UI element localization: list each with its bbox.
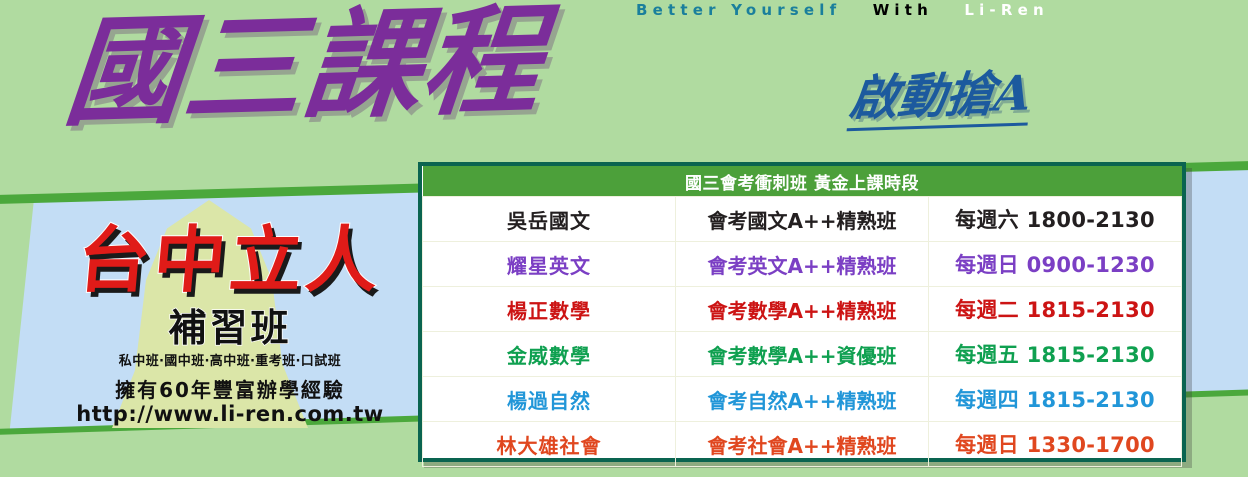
schedule-cell-course: 會考社會A++精熟班 (676, 422, 929, 467)
tagline-part-2: With (873, 1, 933, 19)
logo-brand-name: 台中立人 (30, 218, 429, 302)
brand-logo: 台中立人 補習班 私中班‧國中班‧高中班‧重考班‧口試班 擁有60年豐富辦學經驗… (26, 200, 426, 432)
logo-class-list: 私中班‧國中班‧高中班‧重考班‧口試班 (34, 350, 426, 369)
schedule-cell-time: 每週日 1330-1700 (929, 422, 1182, 467)
tagline-part-1: Better Yourself (636, 1, 841, 19)
schedule-cell-teacher: 楊正數學 (423, 287, 676, 332)
table-row: 楊過自然會考自然A++精熟班每週四 1815-2130 (423, 377, 1182, 422)
schedule-cell-teacher: 吳岳國文 (423, 197, 676, 242)
table-row: 楊正數學會考數學A++精熟班每週二 1815-2130 (423, 287, 1182, 332)
schedule-table-head: 國三會考衝刺班 黃金上課時段 (423, 166, 1182, 197)
logo-experience-text: 擁有60年豐富辦學經驗 (34, 378, 426, 403)
schedule-cell-course: 會考英文A++精熟班 (676, 242, 929, 287)
table-row: 林大雄社會會考社會A++精熟班每週日 1330-1700 (423, 422, 1182, 467)
tagline: Better Yourself With Li-Ren (636, 0, 1248, 21)
schedule-cell-teacher: 金威數學 (423, 332, 676, 377)
schedule-header-title: 國三會考衝刺班 黃金上課時段 (423, 166, 1182, 197)
schedule-cell-time: 每週二 1815-2130 (929, 287, 1182, 332)
logo-website-url[interactable]: http://www.li-ren.com.tw (34, 402, 426, 427)
schedule-header-row: 國三會考衝刺班 黃金上課時段 (423, 166, 1182, 197)
schedule-cell-time: 每週六 1800-2130 (929, 197, 1182, 242)
schedule-cell-teacher: 耀星英文 (423, 242, 676, 287)
poster-root: Better Yourself With Li-Ren 國三課程 啟動搶A 台中… (0, 0, 1248, 477)
schedule-cell-teacher: 林大雄社會 (423, 422, 676, 467)
schedule-cell-course: 會考數學A++資優班 (676, 332, 929, 377)
schedule-cell-course: 會考數學A++精熟班 (676, 287, 929, 332)
page-title: 國三課程 (60, 0, 548, 138)
schedule-table-frame: 國三會考衝刺班 黃金上課時段 吳岳國文會考國文A++精熟班每週六 1800-21… (418, 162, 1186, 462)
schedule-cell-course: 會考自然A++精熟班 (676, 377, 929, 422)
schedule-cell-time: 每週日 0900-1230 (929, 242, 1182, 287)
schedule-cell-time: 每週五 1815-2130 (929, 332, 1182, 377)
schedule-cell-time: 每週四 1815-2130 (929, 377, 1182, 422)
tagline-part-3: Li-Ren (964, 1, 1049, 19)
schedule-table: 國三會考衝刺班 黃金上課時段 吳岳國文會考國文A++精熟班每週六 1800-21… (422, 166, 1182, 467)
schedule-table-inner: 國三會考衝刺班 黃金上課時段 吳岳國文會考國文A++精熟班每週六 1800-21… (422, 166, 1182, 458)
schedule-cell-course: 會考國文A++精熟班 (676, 197, 929, 242)
schedule-cell-teacher: 楊過自然 (423, 377, 676, 422)
table-row: 吳岳國文會考國文A++精熟班每週六 1800-2130 (423, 197, 1182, 242)
table-row: 金威數學會考數學A++資優班每週五 1815-2130 (423, 332, 1182, 377)
schedule-table-body: 吳岳國文會考國文A++精熟班每週六 1800-2130耀星英文會考英文A++精熟… (423, 197, 1182, 467)
logo-brand-type: 補習班 (34, 305, 426, 351)
table-row: 耀星英文會考英文A++精熟班每週日 0900-1230 (423, 242, 1182, 287)
page-subtitle: 啟動搶A (847, 66, 1035, 131)
